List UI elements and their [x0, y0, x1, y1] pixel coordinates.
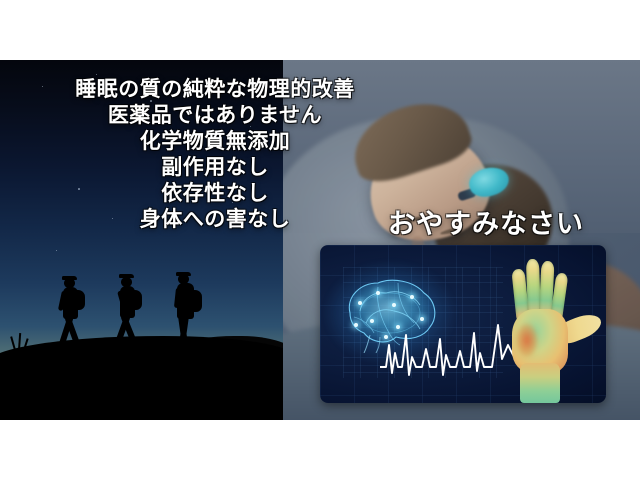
letterbox-bottom: [0, 420, 640, 480]
star-icon: [150, 100, 152, 102]
video-content-area: 睡眠の質の純粋な物理的改善 医薬品ではありません 化学物質無添加 副作用なし 依…: [0, 60, 640, 420]
neuron-node: [376, 291, 380, 295]
hiker-backpack: [187, 290, 202, 312]
neuron-node: [358, 301, 362, 305]
hiker-backpack: [72, 290, 85, 310]
wrist: [520, 363, 560, 403]
ground-silhouette: [0, 338, 283, 420]
letterbox-top: [0, 0, 640, 60]
thermal-hotspot: [516, 323, 538, 357]
star-icon: [78, 188, 80, 190]
slide-frame: 睡眠の質の純粋な物理的改善 医薬品ではありません 化学物質無添加 副作用なし 依…: [0, 0, 640, 480]
neuron-node: [370, 319, 374, 323]
hiker-backpack: [129, 290, 142, 310]
thermal-hand-icon: [498, 251, 594, 399]
science-illustration-panel: [320, 245, 606, 403]
left-image-night-hikers: [0, 60, 283, 420]
goodnight-caption: おやすみなさい: [388, 210, 584, 240]
neuron-node: [410, 295, 414, 299]
neuron-node: [354, 323, 358, 327]
